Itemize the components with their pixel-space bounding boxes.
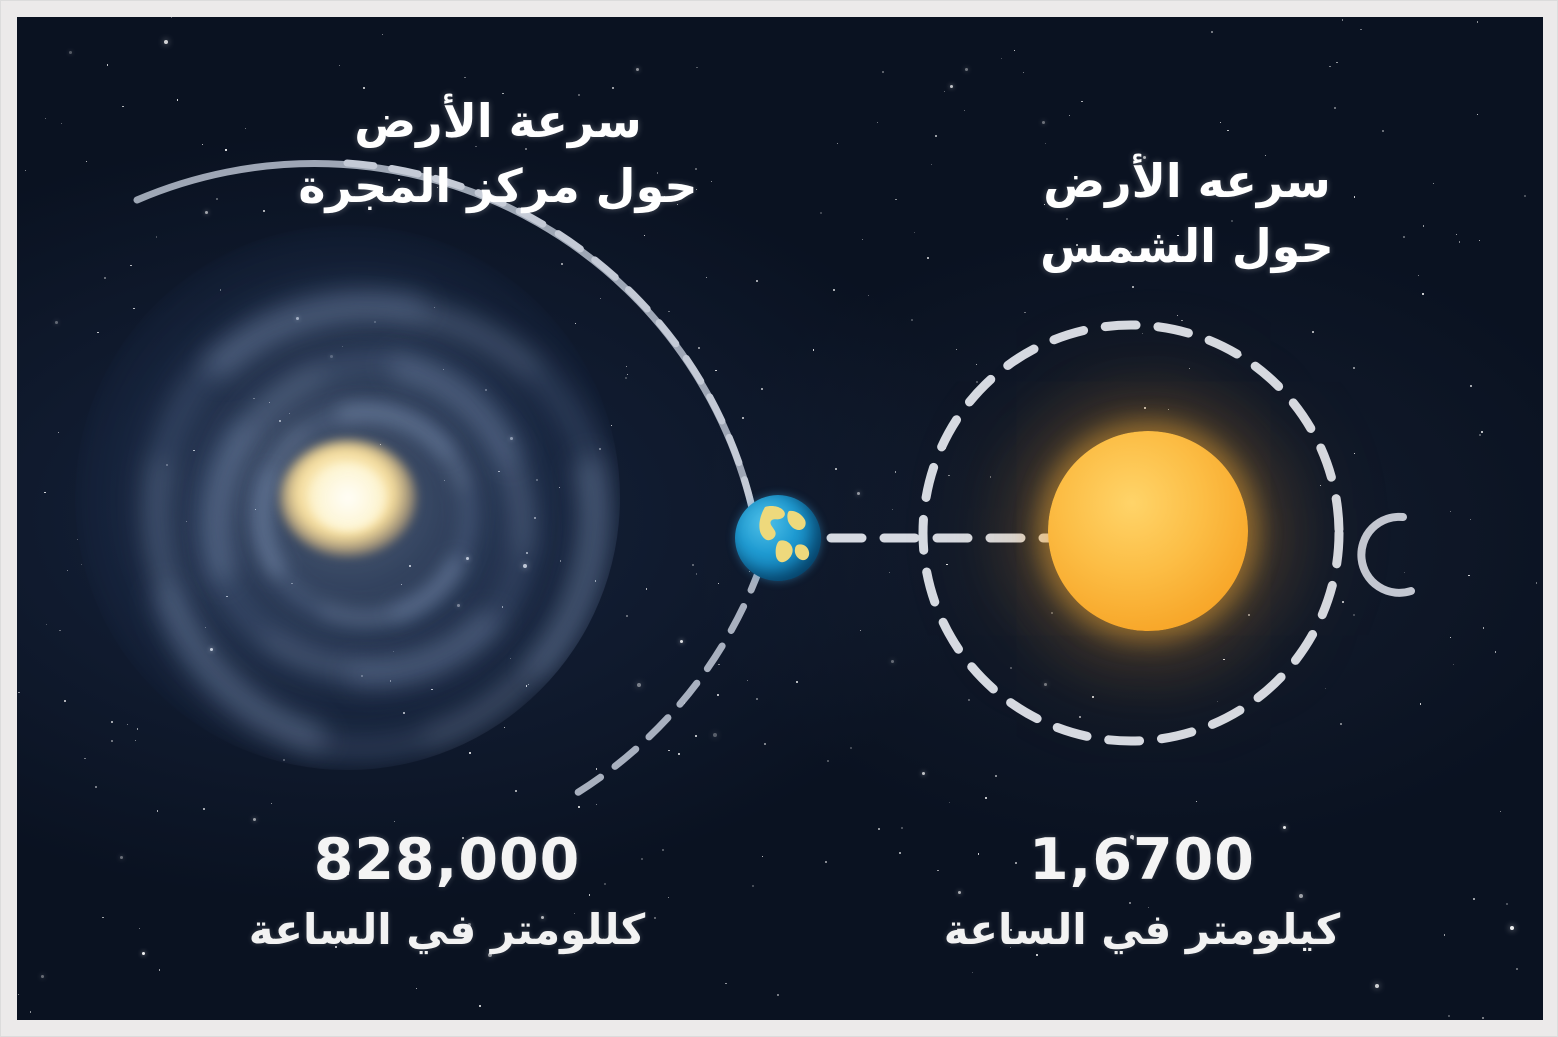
galaxy-orbit-arc-solid [137,163,761,557]
sun-title-line-2: حول الشمس [947,214,1427,279]
sun-speed-value: 1,6700 [917,827,1367,893]
sun-panel-title: سرعه الأرض حول الشمس [947,149,1427,280]
sun-speed-unit: كيلومتر في الساعة [897,905,1387,954]
earth-icon [735,495,821,581]
galaxy-title-line-2: حول مركز المجرة [253,154,743,219]
galaxy-orbit-arc-dashed [347,163,761,557]
sun-icon [1048,431,1248,631]
orbit-marker-icon [1361,517,1411,593]
galaxy-orbit-arc-lower [577,565,761,793]
galaxy-title-line-1: سرعة الأرض [253,89,743,154]
space-canvas: سرعة الأرض حول مركز المجرة 828,000 كللوم… [17,17,1543,1020]
sun-title-line-1: سرعه الأرض [947,149,1427,214]
galaxy-speed-value: 828,000 [222,827,672,893]
outer-frame: سرعة الأرض حول مركز المجرة 828,000 كللوم… [0,0,1558,1037]
earth-continents-icon [735,495,821,581]
galaxy-speed-unit: كللومتر في الساعة [192,905,702,954]
galaxy-panel-title: سرعة الأرض حول مركز المجرة [253,89,743,220]
